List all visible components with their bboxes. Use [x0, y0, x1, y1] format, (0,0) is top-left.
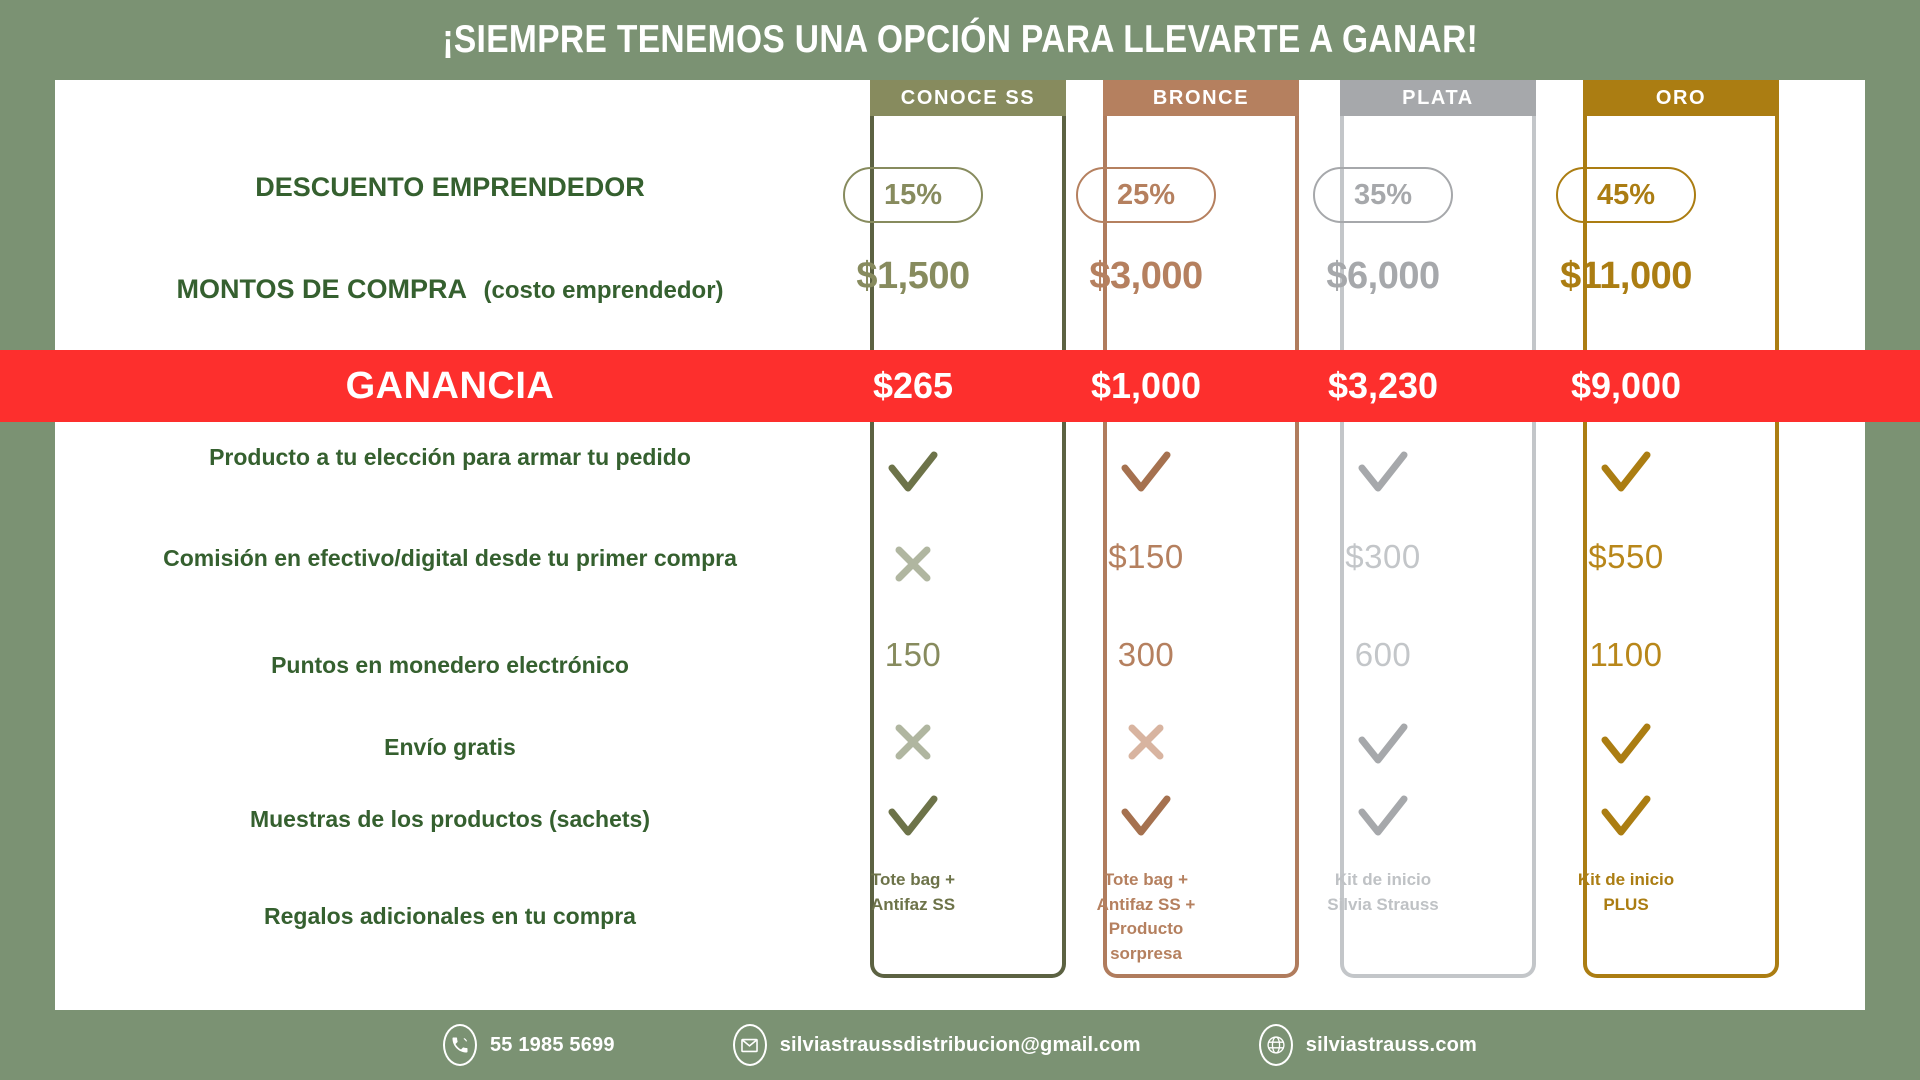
gift-line: Tote bag + — [815, 868, 1011, 893]
value-bronce-row1: $150 — [1048, 538, 1244, 576]
amount-bronce: $3,000 — [1048, 255, 1244, 298]
cross-icon-conoce-ss-row3 — [815, 722, 1011, 762]
row-label-descuento: DESCUENTO EMPRENDEDOR — [60, 172, 840, 203]
check-icon-bronce-row0 — [1048, 450, 1244, 496]
plan-header-oro: ORO — [1583, 80, 1779, 116]
gift-line: Silvia Strauss — [1285, 893, 1481, 918]
phone-icon — [443, 1024, 477, 1066]
plan-header-bronce: BRONCE — [1103, 80, 1299, 116]
gift-line: PLUS — [1528, 893, 1724, 918]
gift-text-plata: Kit de inicioSilvia Strauss — [1285, 868, 1481, 917]
feature-label-2: Puntos en monedero electrónico — [60, 652, 840, 678]
check-icon-conoce-ss-row0 — [815, 450, 1011, 496]
value-bronce-row2: 300 — [1048, 636, 1244, 674]
plan-header-conoce-ss: CONOCE SS — [870, 80, 1066, 116]
row-label-montos-main: MONTOS DE COMPRA — [176, 274, 466, 304]
footer-website[interactable]: silviastrauss.com — [1259, 1024, 1477, 1066]
footer-phone[interactable]: 55 1985 5699 — [443, 1024, 615, 1066]
discount-pill-conoce-ss: 15% — [843, 167, 983, 223]
row-label-montos-sub: (costo emprendedor) — [484, 277, 724, 304]
discount-pill-plata: 35% — [1313, 167, 1453, 223]
value-plata-row2: 600 — [1285, 636, 1481, 674]
check-icon-oro-row0 — [1528, 450, 1724, 496]
ganancia-value-bronce: $1,000 — [1048, 350, 1244, 422]
footer-email[interactable]: silviastraussdistribucion@gmail.com — [733, 1024, 1141, 1066]
feature-label-4: Muestras de los productos (sachets) — [60, 806, 840, 832]
check-icon-conoce-ss-row4 — [815, 794, 1011, 840]
amount-oro: $11,000 — [1528, 255, 1724, 298]
amount-conoce-ss: $1,500 — [815, 255, 1011, 298]
gift-line: Kit de inicio — [1285, 868, 1481, 893]
check-icon-plata-row4 — [1285, 794, 1481, 840]
discount-pill-oro: 45% — [1556, 167, 1696, 223]
globe-icon — [1259, 1024, 1293, 1066]
footer-phone-text: 55 1985 5699 — [490, 1034, 615, 1057]
gift-text-bronce: Tote bag +Antifaz SS +Productosorpresa — [1048, 868, 1244, 967]
gift-line: Kit de inicio — [1528, 868, 1724, 893]
value-plata-row1: $300 — [1285, 538, 1481, 576]
amount-plata: $6,000 — [1285, 255, 1481, 298]
feature-label-0: Producto a tu elección para armar tu ped… — [60, 444, 840, 470]
gift-line: sorpresa — [1048, 942, 1244, 967]
value-oro-row2: 1100 — [1528, 636, 1724, 674]
check-icon-plata-row0 — [1285, 450, 1481, 496]
gift-line: Antifaz SS — [815, 893, 1011, 918]
gift-text-conoce-ss: Tote bag +Antifaz SS — [815, 868, 1011, 917]
gift-line: Producto — [1048, 917, 1244, 942]
check-icon-plata-row3 — [1285, 722, 1481, 768]
cross-icon-conoce-ss-row1 — [815, 544, 1011, 584]
footer-contact-bar: 55 1985 5699 silviastraussdistribucion@g… — [0, 1010, 1920, 1080]
email-icon — [733, 1024, 767, 1066]
check-icon-bronce-row4 — [1048, 794, 1244, 840]
value-conoce-ss-row2: 150 — [815, 636, 1011, 674]
page-title: ¡SIEMPRE TENEMOS UNA OPCIÓN PARA LLEVART… — [442, 18, 1478, 62]
footer-website-text: silviastrauss.com — [1306, 1034, 1477, 1057]
footer-email-text: silviastraussdistribucion@gmail.com — [780, 1034, 1141, 1057]
cross-icon-bronce-row3 — [1048, 722, 1244, 762]
ganancia-label: GANANCIA — [60, 350, 840, 422]
feature-label-5: Regalos adicionales en tu compra — [60, 903, 840, 929]
check-icon-oro-row3 — [1528, 722, 1724, 768]
discount-pill-bronce: 25% — [1076, 167, 1216, 223]
check-icon-oro-row4 — [1528, 794, 1724, 840]
page-title-bar: ¡SIEMPRE TENEMOS UNA OPCIÓN PARA LLEVART… — [0, 0, 1920, 80]
gift-text-oro: Kit de inicioPLUS — [1528, 868, 1724, 917]
plan-header-plata: PLATA — [1340, 80, 1536, 116]
row-label-montos: MONTOS DE COMPRA (costo emprendedor) — [60, 274, 840, 305]
value-oro-row1: $550 — [1528, 538, 1724, 576]
ganancia-value-conoce-ss: $265 — [815, 350, 1011, 422]
ganancia-value-oro: $9,000 — [1528, 350, 1724, 422]
feature-label-1: Comisión en efectivo/digital desde tu pr… — [60, 545, 840, 571]
feature-label-3: Envío gratis — [60, 734, 840, 760]
ganancia-value-plata: $3,230 — [1285, 350, 1481, 422]
gift-line: Tote bag + — [1048, 868, 1244, 893]
gift-line: Antifaz SS + — [1048, 893, 1244, 918]
